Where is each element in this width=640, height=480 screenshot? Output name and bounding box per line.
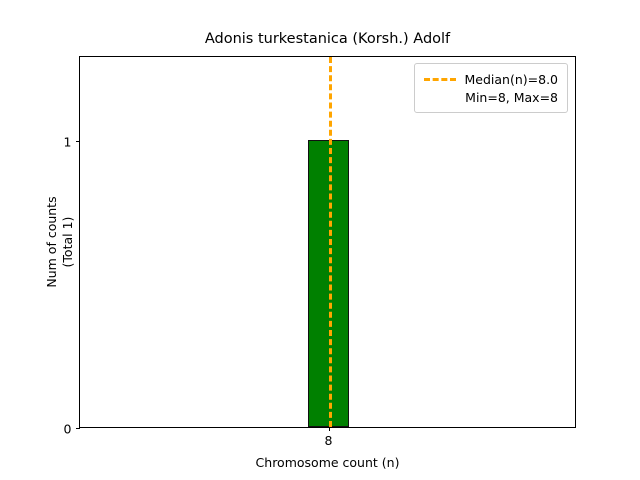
xtick-label-8: 8	[325, 433, 333, 448]
y-axis-label: Num of counts (Total 1)	[44, 56, 74, 428]
plot-area: 0 1 8 Median(n)=8.0 Min=8, Max=8	[79, 56, 576, 428]
legend-entry-minmax: Min=8, Max=8	[424, 88, 559, 106]
x-axis-label: Chromosome count (n)	[79, 455, 576, 470]
legend-entry-median: Median(n)=8.0	[424, 70, 559, 88]
chart-title: Adonis turkestanica (Korsh.) Adolf	[79, 31, 576, 47]
xtick-8	[329, 427, 330, 431]
dashed-line-icon	[424, 78, 456, 81]
legend-label-minmax: Min=8, Max=8	[465, 90, 558, 105]
ytick-0: 0	[76, 428, 80, 429]
median-line	[329, 57, 332, 427]
chart-figure: Adonis turkestanica (Korsh.) Adolf 0 1 8…	[0, 0, 640, 480]
legend-label-median: Median(n)=8.0	[465, 72, 559, 87]
chart-legend: Median(n)=8.0 Min=8, Max=8	[414, 63, 569, 113]
ytick-1: 1	[76, 141, 80, 142]
